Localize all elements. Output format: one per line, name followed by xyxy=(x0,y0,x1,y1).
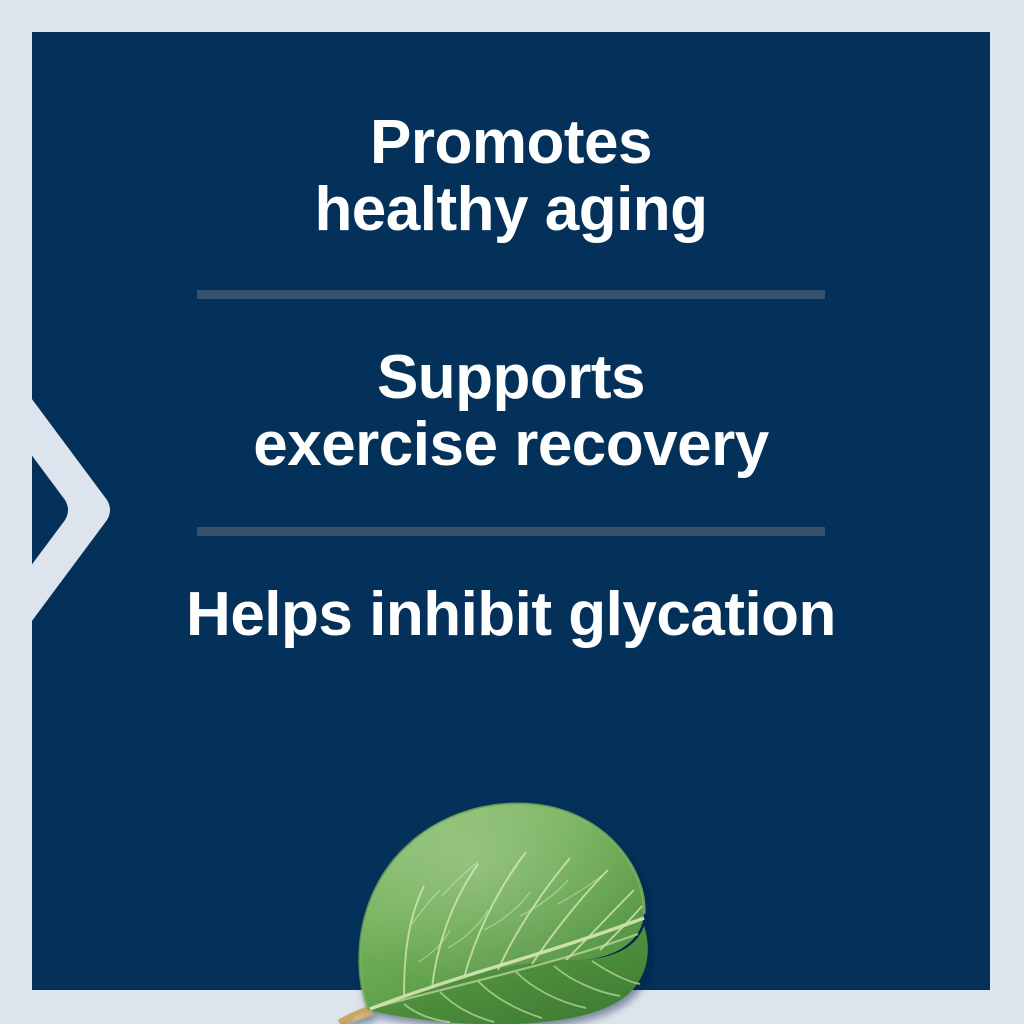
benefit-text-supports-exercise-recovery: Supports exercise recovery xyxy=(253,345,769,479)
benefit-divider-2 xyxy=(197,527,825,536)
benefit-divider-1 xyxy=(197,290,825,299)
benefit-text-helps-inhibit-glycation: Helps inhibit glycation xyxy=(186,582,836,649)
benefits-list: Promotes healthy aging Supports exercise… xyxy=(32,32,990,649)
benefit-text-promotes-healthy-aging: Promotes healthy aging xyxy=(314,110,707,244)
poster-canvas: Promotes healthy aging Supports exercise… xyxy=(0,0,1024,1024)
